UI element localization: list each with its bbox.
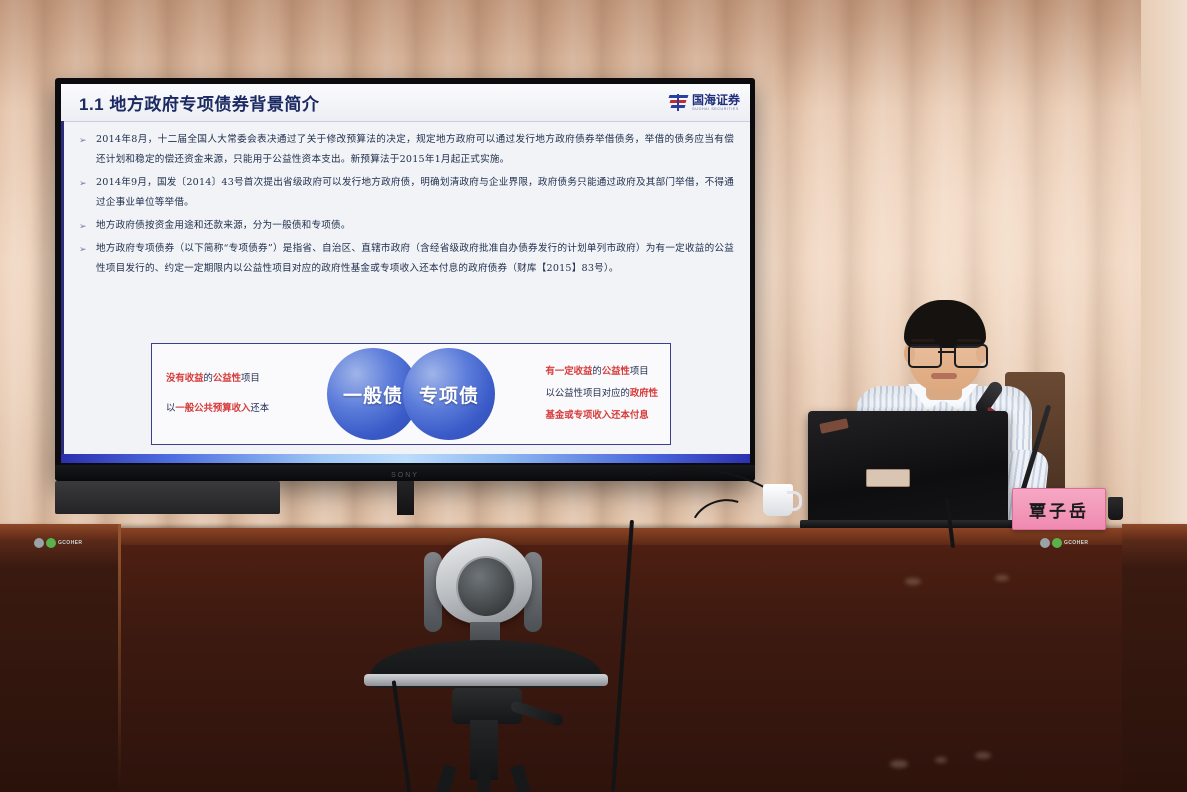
venn-diagram: 没有收益的公益性项目 以一般公共预算收入还本 一般债 专项债 有一定收益的公益性… bbox=[151, 343, 671, 445]
venn-circle-special-bond: 专项债 bbox=[403, 348, 495, 440]
venn-left-l2-red: 一般公共预算收入 bbox=[175, 403, 250, 414]
bullet-marker-icon: ➢ bbox=[79, 173, 90, 213]
bullet-text: 2014年8月，十二届全国人大常委会表决通过了关于修改预算法的决定，规定地方政府… bbox=[96, 130, 734, 170]
conference-room-scene: 1.1 地方政府专项债券背景简介 国海证券 GUOHAI SECURITIES … bbox=[0, 0, 1187, 792]
desk-badge-right: GCOHER bbox=[1040, 538, 1088, 548]
floor-speck bbox=[890, 760, 908, 768]
laptop-brand-logo-icon bbox=[819, 418, 848, 434]
ptz-conference-camera bbox=[360, 530, 610, 792]
bullet-marker-icon: ➢ bbox=[79, 130, 90, 170]
presentation-slide: 1.1 地方政府专项债券背景简介 国海证券 GUOHAI SECURITIES … bbox=[61, 84, 750, 463]
venn-right-l1-red2: 公益性 bbox=[602, 366, 630, 377]
tv-stand bbox=[397, 481, 414, 515]
tv-brand-label: SONY bbox=[391, 472, 419, 479]
presenter-mouth bbox=[931, 373, 957, 379]
camera-base-wing bbox=[370, 640, 602, 688]
badge-dot-gray-icon bbox=[1040, 538, 1050, 548]
slide-bullet: ➢ 地方政府专项债券（以下简称“专项债券”）是指省、自治区、直辖市政府（含经省级… bbox=[79, 239, 734, 279]
slide-body: ➢ 2014年8月，十二届全国人大常委会表决通过了关于修改预算法的决定，规定地方… bbox=[61, 122, 750, 463]
badge-label: GCOHER bbox=[58, 540, 82, 546]
venn-left-l1-mid: 的 bbox=[204, 373, 213, 384]
desk-badge-left: GCOHER bbox=[34, 538, 82, 548]
badge-label: GCOHER bbox=[1064, 540, 1088, 546]
logo-text: 国海证券 GUOHAI SECURITIES bbox=[692, 94, 740, 112]
presenter-eyebrow bbox=[957, 339, 981, 342]
slide-bullet: ➢ 地方政府债按资金用途和还款来源，分为一般债和专项债。 bbox=[79, 216, 734, 236]
venn-right-description: 有一定收益的公益性项目 以公益性项目对应的政府性 基金或专项收入还本付息 bbox=[545, 361, 658, 427]
bullet-marker-icon: ➢ bbox=[79, 216, 90, 236]
wall-right bbox=[1141, 0, 1187, 545]
laptop-lid bbox=[808, 411, 1008, 523]
desk-right-section bbox=[1122, 524, 1187, 792]
guohai-logo-mark-icon bbox=[669, 94, 688, 111]
bullet-marker-icon: ➢ bbox=[79, 239, 90, 279]
bullet-text: 地方政府债按资金用途和还款来源，分为一般债和专项债。 bbox=[96, 216, 351, 236]
venn-right-l2-red: 政府性 bbox=[630, 388, 658, 399]
desk-left-section bbox=[0, 524, 120, 792]
floor-speck bbox=[935, 757, 947, 763]
venn-right-l1-mid: 的 bbox=[592, 366, 601, 377]
venn-left-l2-tail: 还本 bbox=[250, 403, 269, 414]
slide-footer-bar bbox=[61, 454, 750, 463]
badge-dot-green-icon bbox=[1052, 538, 1062, 548]
slide-header: 1.1 地方政府专项债券背景简介 国海证券 GUOHAI SECURITIES bbox=[61, 84, 750, 121]
tripod-leg bbox=[425, 764, 457, 792]
floor-speck bbox=[975, 752, 991, 759]
venn-right-l2: 以公益性项目对应的 bbox=[545, 388, 629, 399]
tripod-leg bbox=[476, 766, 491, 792]
eyeglasses-icon bbox=[908, 344, 984, 364]
venn-left-l2-head: 以 bbox=[166, 403, 175, 414]
company-logo: 国海证券 GUOHAI SECURITIES bbox=[669, 94, 740, 112]
black-cup bbox=[1108, 497, 1123, 520]
laptop-asset-sticker bbox=[866, 469, 910, 487]
slide-bullet: ➢ 2014年9月，国发〔2014〕43号首次提出省级政府可以发行地方政府债，明… bbox=[79, 173, 734, 213]
logo-name-en: GUOHAI SECURITIES bbox=[692, 108, 740, 112]
desk-seam bbox=[118, 524, 121, 792]
badge-dot-green-icon bbox=[46, 538, 56, 548]
presentation-display: 1.1 地方政府专项债券背景简介 国海证券 GUOHAI SECURITIES … bbox=[55, 78, 755, 481]
tripod-leg bbox=[510, 764, 542, 792]
venn-left-l1-red: 没有收益 bbox=[166, 373, 204, 384]
bullet-text: 2014年9月，国发〔2014〕43号首次提出省级政府可以发行地方政府债，明确划… bbox=[96, 173, 734, 213]
camera-cable bbox=[392, 680, 413, 792]
venn-right-l3-red: 基金或专项收入还本付息 bbox=[545, 410, 648, 421]
name-plate: 覃子岳 bbox=[1012, 488, 1106, 530]
slide-title: 1.1 地方政府专项债券背景简介 bbox=[79, 90, 319, 115]
soundbar bbox=[55, 481, 280, 514]
slide-bullet: ➢ 2014年8月，十二届全国人大常委会表决通过了关于修改预算法的决定，规定地方… bbox=[79, 130, 734, 170]
floor-speck bbox=[995, 575, 1009, 581]
name-plate-text: 覃子岳 bbox=[1029, 497, 1089, 522]
venn-left-l1-red2: 公益性 bbox=[213, 373, 241, 384]
venn-left-description: 没有收益的公益性项目 以一般公共预算收入还本 bbox=[166, 368, 269, 420]
badge-dot-gray-icon bbox=[34, 538, 44, 548]
venn-right-l1-red: 有一定收益 bbox=[545, 366, 592, 377]
venn-right-l1-tail: 项目 bbox=[630, 366, 649, 377]
bullet-text: 地方政府专项债券（以下简称“专项债券”）是指省、自治区、直辖市政府（含经省级政府… bbox=[96, 239, 734, 279]
white-mug bbox=[763, 484, 793, 516]
logo-name-cn: 国海证券 bbox=[692, 94, 740, 106]
floor-speck bbox=[905, 578, 921, 585]
camera-lens-icon bbox=[456, 556, 516, 618]
presenter-eyebrow bbox=[911, 339, 935, 342]
venn-left-l1-tail: 项目 bbox=[241, 373, 260, 384]
